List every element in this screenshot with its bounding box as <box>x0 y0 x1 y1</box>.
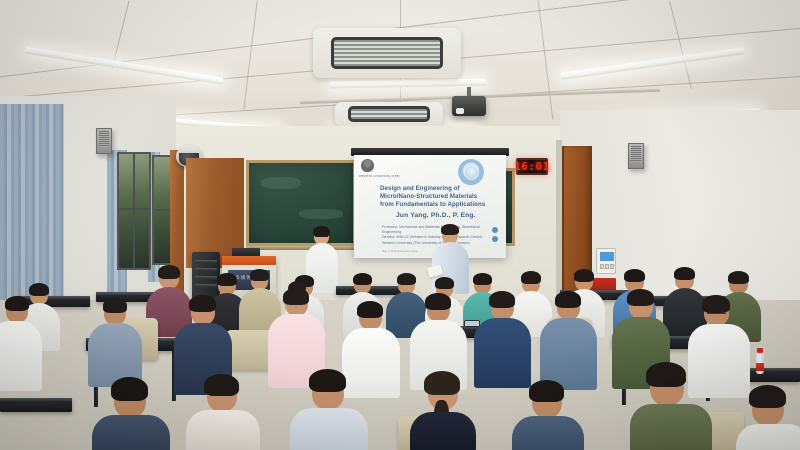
rack-slot <box>195 284 217 287</box>
torso <box>512 416 584 450</box>
torso <box>92 415 170 450</box>
torso <box>410 412 476 450</box>
hair <box>441 224 459 235</box>
wall-speaker-right <box>628 143 644 169</box>
desk <box>0 398 72 412</box>
hair <box>425 293 451 310</box>
speaker-grill <box>99 131 109 147</box>
panel-display <box>600 252 614 261</box>
hair <box>529 380 564 402</box>
window <box>117 152 151 270</box>
hair <box>353 273 372 285</box>
presentation-slide: western-university-crest Design and Engi… <box>354 155 506 258</box>
speaker-grill <box>631 146 641 162</box>
hair <box>357 301 383 318</box>
hair <box>555 291 581 308</box>
chalk-smudge <box>299 209 343 219</box>
projector-lens <box>456 108 464 114</box>
ceiling-light <box>560 47 744 80</box>
hair <box>250 269 269 281</box>
hair <box>646 362 686 387</box>
hair <box>283 288 309 305</box>
projector-body <box>452 96 486 116</box>
slide-title: Design and Engineering of Micro/Nano-Str… <box>380 185 502 209</box>
torso <box>290 408 368 450</box>
water-bottle-on-desk <box>756 352 764 374</box>
hair <box>189 295 216 312</box>
hair <box>702 295 730 313</box>
western-university-crest-icon <box>361 159 376 174</box>
panel-button[interactable] <box>605 264 609 269</box>
ceiling-grid-line <box>538 0 554 119</box>
ceiling-grid-line <box>243 0 257 109</box>
window-mullion <box>133 154 135 268</box>
hair <box>309 369 346 392</box>
ceiling-grid-line <box>669 1 692 89</box>
hair <box>5 296 29 311</box>
slide-footer: May 2, 2018 Guangzhou China <box>382 250 418 253</box>
hair <box>424 371 460 395</box>
slide-wordmark: western-university-crest <box>359 174 400 178</box>
wall-speaker-left <box>96 128 112 154</box>
vent-louvers <box>348 106 430 121</box>
slide-logo-dot-icon <box>492 227 498 233</box>
slide-title-line2: Micro/Nano-Structured Materials <box>380 193 502 201</box>
hair <box>749 385 786 408</box>
wall-control-panel[interactable] <box>596 248 616 274</box>
air-conditioner-vent <box>335 102 443 126</box>
hair <box>217 273 237 286</box>
panel-button[interactable] <box>610 264 614 269</box>
projection-screen: western-university-crest Design and Engi… <box>354 155 506 258</box>
hair <box>397 273 416 285</box>
green-chalkboard <box>246 160 356 246</box>
glasses <box>315 236 328 239</box>
torso <box>186 410 260 450</box>
rack-slot <box>195 268 217 271</box>
torso <box>688 324 750 398</box>
clock-time: 16:01 <box>514 160 550 173</box>
hair <box>435 277 454 289</box>
hair <box>111 377 148 401</box>
digital-wall-clock: 16:01 <box>516 158 548 175</box>
vent-louvers <box>331 37 443 69</box>
hair <box>574 269 594 282</box>
hair <box>473 273 492 285</box>
slide-author: Jun Yang, Ph.D., P. Eng. <box>396 212 506 219</box>
slide-logo-dot-icon <box>492 236 498 242</box>
rack-slot <box>195 276 217 279</box>
hair <box>728 271 749 284</box>
panel-button[interactable] <box>600 264 604 269</box>
slide-title-line3: from Fundamentals to Applications <box>380 201 502 209</box>
lectern-top-panel <box>222 256 276 265</box>
lecture-hall-photo: western-university-crest Design and Engi… <box>0 0 800 450</box>
university-seal-icon <box>458 159 484 185</box>
torso <box>736 424 800 450</box>
hair <box>103 298 127 313</box>
hair <box>627 289 654 306</box>
torso <box>342 328 400 398</box>
torso <box>0 321 42 391</box>
air-conditioner-vent <box>313 28 461 78</box>
hair <box>489 291 515 308</box>
hair <box>521 271 541 284</box>
chalk-smudge <box>261 177 301 189</box>
bottle-cap <box>757 348 763 353</box>
ceiling-light <box>330 79 485 89</box>
rack-slot <box>195 260 217 263</box>
chalk-tray <box>246 246 356 250</box>
torso <box>630 404 712 450</box>
slide-title-line1: Design and Engineering of <box>380 185 502 193</box>
hair <box>624 269 645 282</box>
hair <box>29 283 49 296</box>
hair <box>674 267 695 280</box>
glasses <box>707 313 726 316</box>
window-mullion <box>119 208 149 210</box>
hair <box>158 265 180 279</box>
ceiling-grid-line <box>112 1 130 69</box>
bottle-label <box>756 363 764 371</box>
hair <box>204 374 239 396</box>
chair <box>226 330 272 370</box>
torso <box>474 318 531 388</box>
